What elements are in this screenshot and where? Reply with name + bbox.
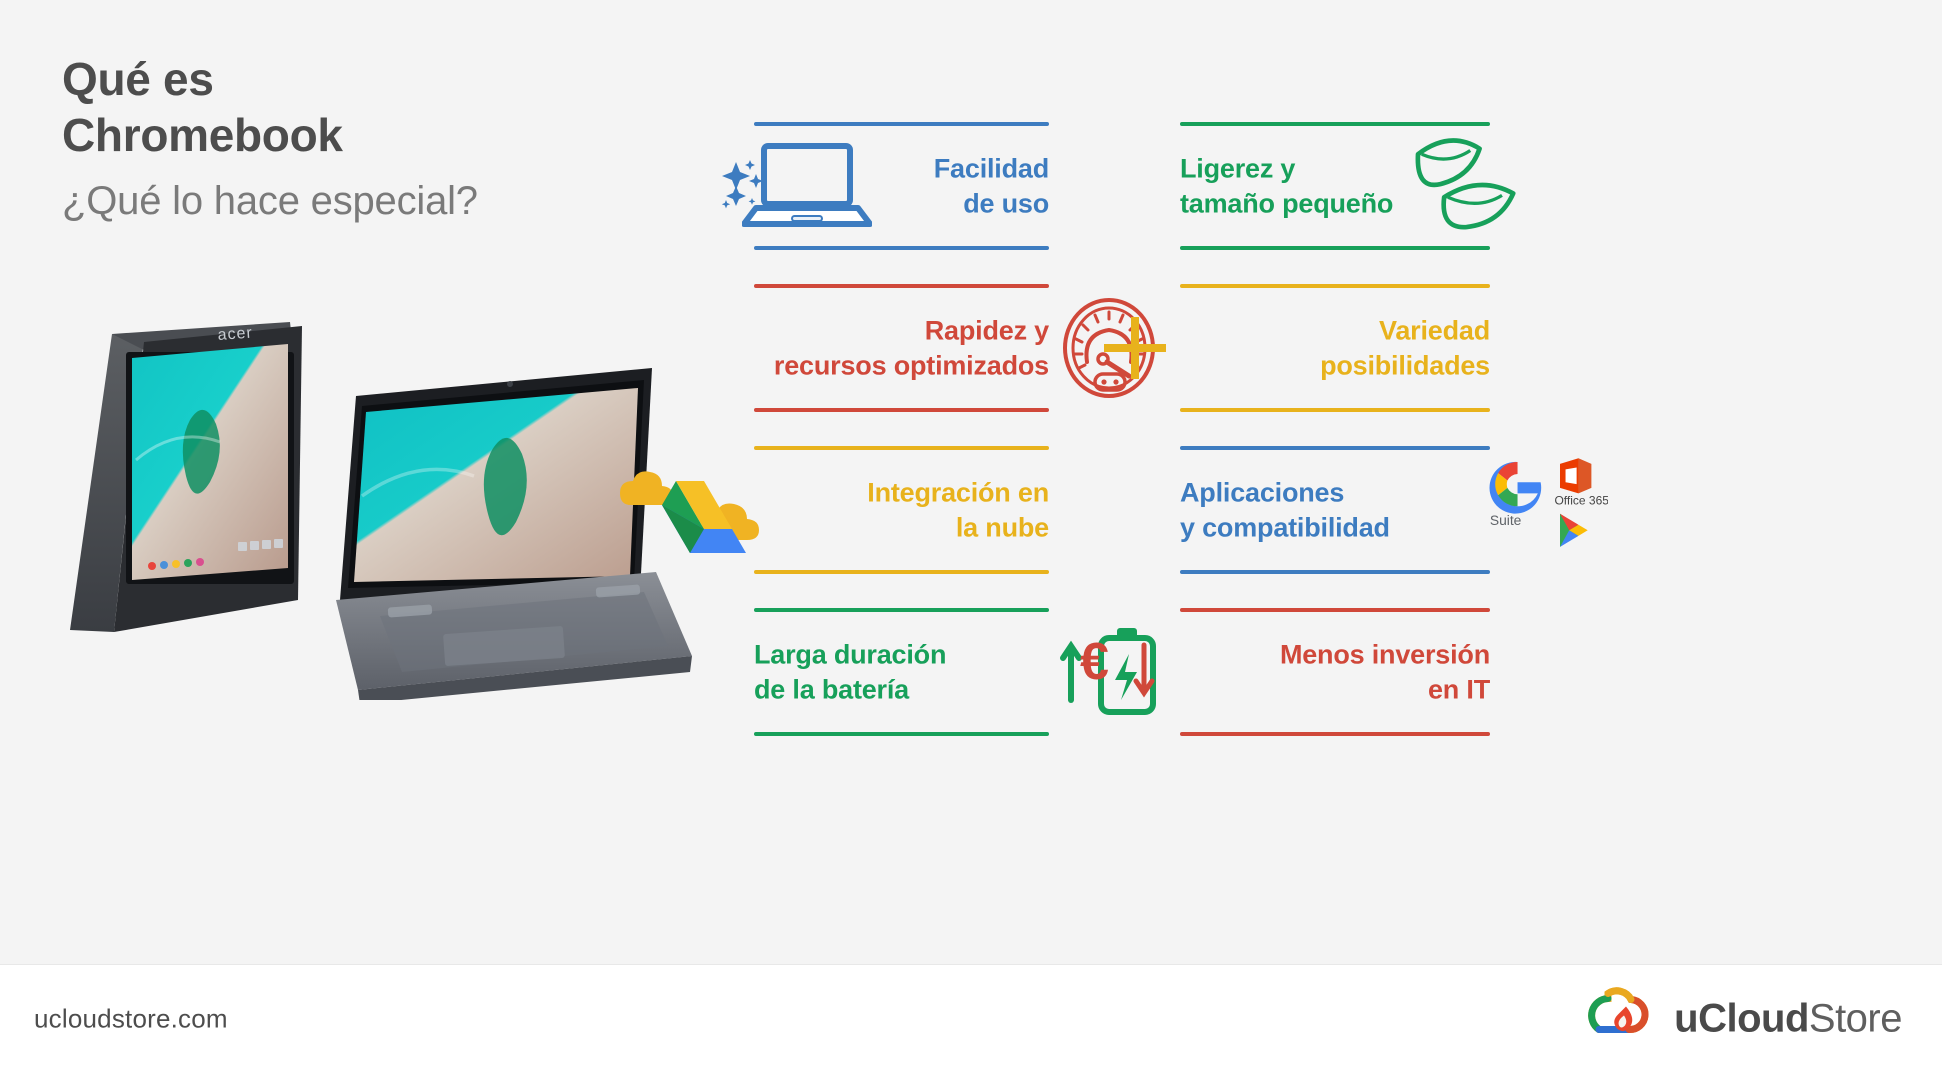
chromebook-product-photo: acer acer	[40, 300, 700, 700]
label-line-2: recursos optimizados	[754, 348, 1049, 383]
rule-bottom	[1180, 732, 1490, 736]
rule-top	[1180, 608, 1490, 612]
website-url[interactable]: ucloudstore.com	[34, 1003, 228, 1034]
rule-top	[1180, 446, 1490, 450]
rule-bottom	[1180, 246, 1490, 250]
label-line-1: Ligerez y	[1180, 151, 1490, 186]
label-line-1: Larga duración	[754, 637, 1049, 672]
rule-bottom	[754, 570, 1049, 574]
office-365-label: Office 365	[1554, 493, 1608, 507]
footer-bar: ucloudstore.com uCloudStore	[0, 964, 1942, 1072]
label-line-2: la nube	[754, 510, 1049, 545]
feature-ligerez-y-tamano-pequeno[interactable]: Ligerez y tamaño pequeño	[1180, 122, 1490, 250]
feature-menos-inversion-en-it[interactable]: € Menos inversión en IT	[1180, 608, 1490, 736]
label-line-1: Integración en	[754, 475, 1049, 510]
brand-wordmark: uCloudStore	[1674, 996, 1902, 1041]
label-line-1: Rapidez y	[754, 313, 1049, 348]
title-line-1: Qué es	[62, 52, 822, 108]
acer-logo-lid: acer	[217, 325, 253, 344]
brand-prefix: uCloud	[1674, 996, 1809, 1040]
feature-aplicaciones-y-compatibilidad[interactable]: Suite Office 365 Aplicacion	[1180, 446, 1490, 574]
rule-bottom	[1180, 570, 1490, 574]
feature-label: Menos inversión en IT	[1180, 637, 1490, 706]
feature-label: Larga duración de la batería	[754, 637, 1049, 706]
rule-top	[754, 608, 1049, 612]
ucloudstore-brand[interactable]: uCloudStore	[1588, 984, 1902, 1053]
label-line-1: Aplicaciones	[1180, 475, 1490, 510]
feature-grid: Facilidad de uso Ligerez y tamaño pequeñ…	[700, 108, 1930, 748]
ucloudstore-logo-icon	[1588, 984, 1660, 1053]
feature-rapidez-y-recursos-optimizados[interactable]: Rapidez y recursos optimizados	[754, 284, 1049, 412]
rule-top	[754, 446, 1049, 450]
label-line-1: Variedad	[1180, 313, 1490, 348]
feature-variedad-posibilidades[interactable]: Variedad posibilidades	[1180, 284, 1490, 412]
feature-larga-duracion-de-la-bateria[interactable]: Larga duración de la batería	[754, 608, 1049, 736]
label-line-2: en IT	[1180, 672, 1490, 707]
feature-facilidad-de-uso[interactable]: Facilidad de uso	[754, 122, 1049, 250]
google-drive-cloud-icon	[614, 455, 764, 565]
rule-top	[754, 122, 1049, 126]
rule-top	[1180, 122, 1490, 126]
rule-bottom	[754, 732, 1049, 736]
rule-top	[754, 284, 1049, 288]
label-line-1: Menos inversión	[1180, 637, 1490, 672]
app-logos-icon: Suite Office 365	[1488, 455, 1608, 565]
label-line-2: y compatibilidad	[1180, 510, 1490, 545]
brand-suffix: Store	[1809, 996, 1902, 1040]
plus-icon	[1098, 311, 1172, 385]
g-suite-label: Suite	[1490, 512, 1522, 528]
svg-text:€: €	[1080, 633, 1109, 691]
feature-integracion-en-la-nube[interactable]: Integración en la nube	[754, 446, 1049, 574]
rule-top	[1180, 284, 1490, 288]
rule-bottom	[754, 408, 1049, 412]
label-line-2: posibilidades	[1180, 348, 1490, 383]
feature-label: Rapidez y recursos optimizados	[754, 313, 1049, 382]
feature-label: Ligerez y tamaño pequeño	[1180, 151, 1490, 220]
feature-label: Integración en la nube	[754, 475, 1049, 544]
label-line-2: de la batería	[754, 672, 1049, 707]
label-line-2: tamaño pequeño	[1180, 186, 1490, 221]
feature-label: Variedad posibilidades	[1180, 313, 1490, 382]
rule-bottom	[1180, 408, 1490, 412]
rule-bottom	[754, 246, 1049, 250]
feature-label: Aplicaciones y compatibilidad	[1180, 475, 1490, 544]
euro-icon: €	[1078, 627, 1170, 717]
label-line-1: Facilidad	[754, 151, 1049, 186]
label-line-2: de uso	[754, 186, 1049, 221]
feature-label: Facilidad de uso	[754, 151, 1049, 220]
